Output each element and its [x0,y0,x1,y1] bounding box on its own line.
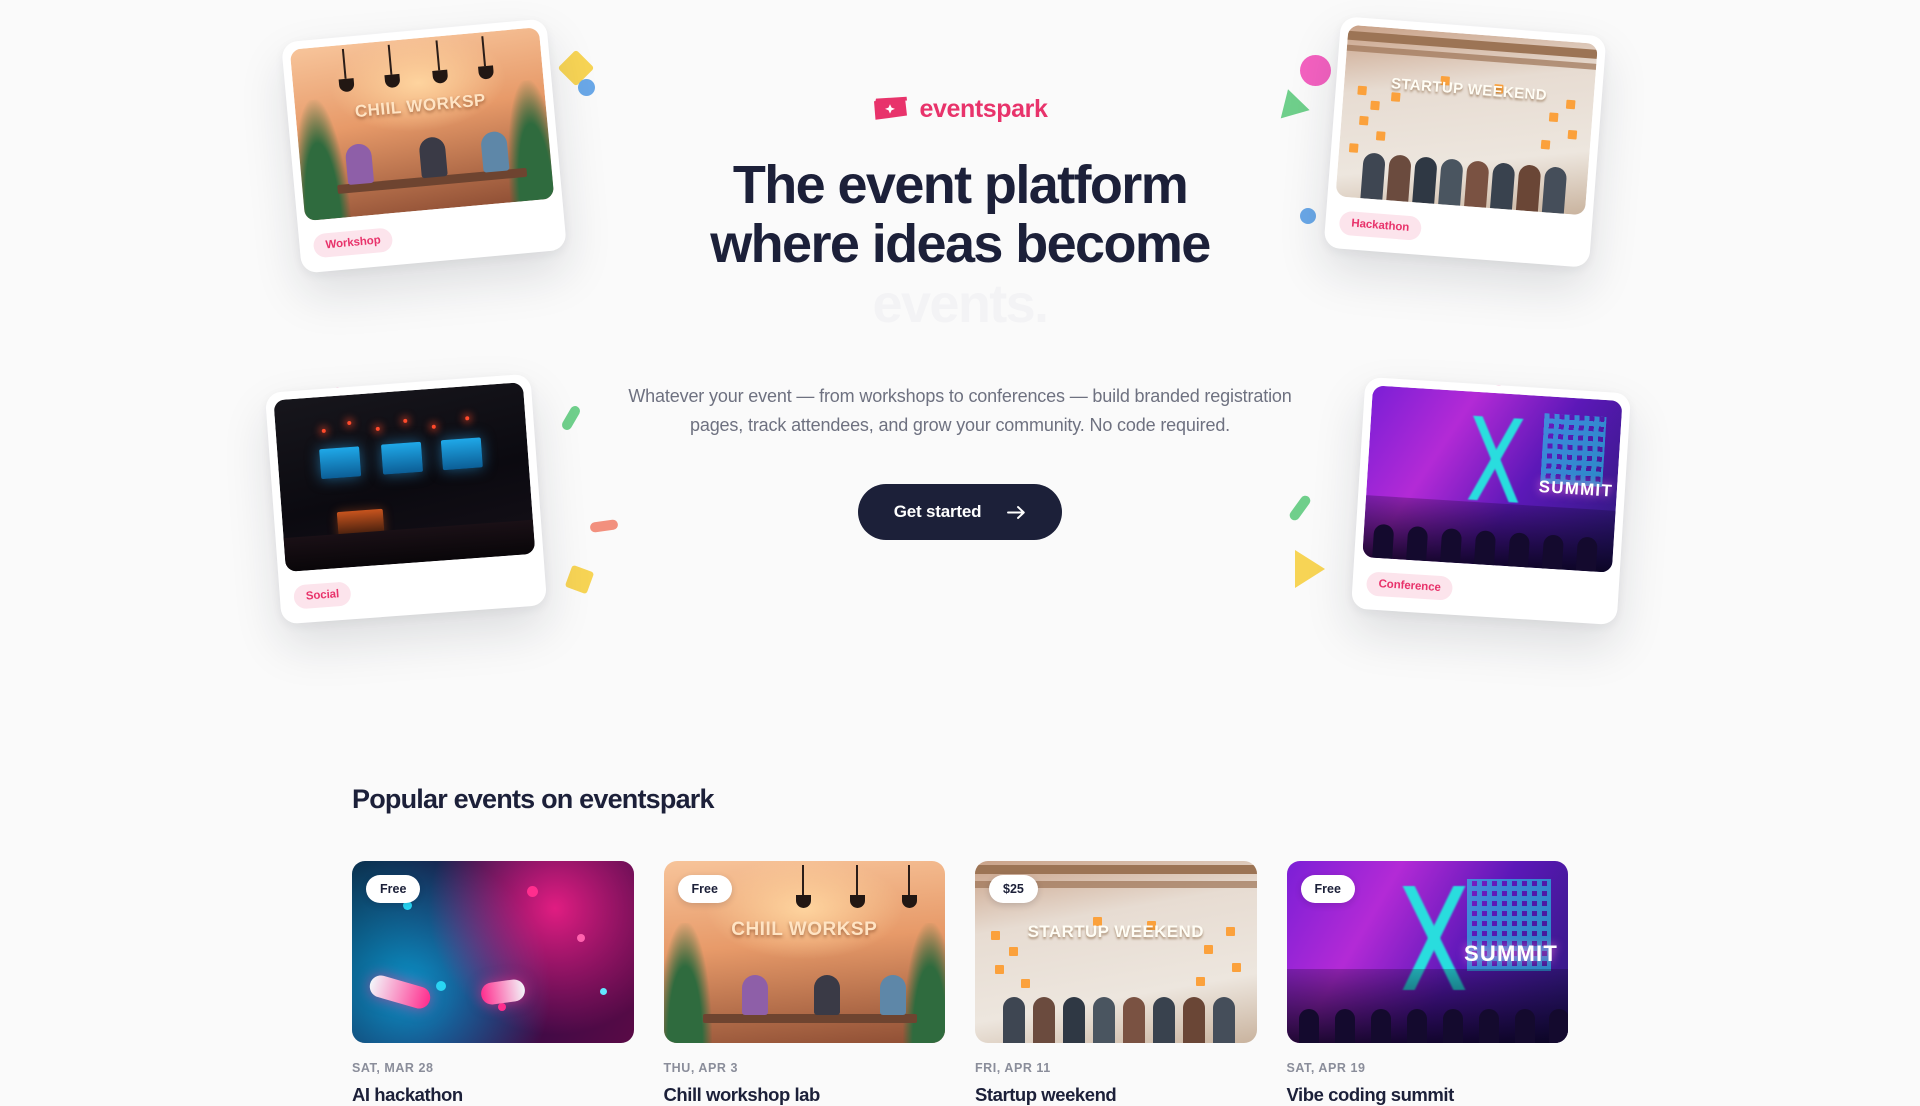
hackathon-photo: STARTUP WEEKEND [1335,25,1597,216]
hero-content: eventspark The event platform where idea… [600,96,1320,540]
event-grid: Free SAT, MAR 28 AI hackathon [352,861,1568,1106]
hackathon-thumb-text: STARTUP WEEKEND [975,923,1257,940]
decor-circle-blue [578,79,595,96]
popular-events-title: Popular events on eventspark [352,700,1568,815]
event-card[interactable]: $25 STARTUP WEEKEND [975,861,1257,1106]
price-badge: Free [1301,875,1355,903]
price-badge: Free [678,875,732,903]
popular-events-section: Popular events on eventspark Free [0,700,1920,1106]
event-thumbnail: $25 STARTUP WEEKEND [975,861,1257,1043]
decor-triangle-yellow [1295,550,1325,588]
price-badge: $25 [989,875,1038,903]
floating-card-social[interactable]: Social [265,374,547,625]
decor-circle-magenta [1300,55,1331,86]
social-photo [273,382,535,572]
floating-card-hackathon[interactable]: STARTUP WEEKEND Hackathon [1323,16,1606,268]
floating-card-workshop[interactable]: CHIIL WORKSP Workshop [281,18,567,273]
floating-card-conference[interactable]: SUMMIT Conference [1351,377,1631,625]
price-badge: Free [366,875,420,903]
brand-name: eventspark [919,97,1047,122]
tag-chip-hackathon: Hackathon [1339,211,1423,241]
hackathon-photo-text: STARTUP WEEKEND [1344,73,1594,107]
hero-section: CHIIL WORKSP Workshop STARTUP WEEK [0,0,1920,700]
event-date: FRI, APR 11 [975,1061,1257,1075]
ticket-icon [872,96,908,122]
cta-container: Get started [600,484,1320,540]
get-started-label: Get started [894,502,982,522]
event-card[interactable]: Free SAT, MAR 28 AI hackathon [352,861,634,1106]
decor-square-yellow-3 [565,565,594,594]
conference-thumb-text: SUMMIT [1464,941,1558,967]
brand-logo[interactable]: eventspark [600,96,1320,122]
hero-subtext: Whatever your event — from workshops to … [600,382,1320,440]
event-name: Startup weekend [975,1084,1257,1106]
tag-chip-social: Social [293,581,352,609]
page-title: The event platform where ideas become ev… [600,156,1320,334]
event-date: SAT, APR 19 [1287,1061,1569,1075]
event-name: Chill workshop lab [664,1084,946,1106]
arrow-right-icon [1007,505,1026,520]
workshop-photo: CHIIL WORKSP [290,27,555,221]
headline-line-1: The event platform [733,155,1187,215]
tag-chip-conference: Conference [1366,571,1454,600]
conference-photo: SUMMIT [1362,385,1622,572]
event-name: AI hackathon [352,1084,634,1106]
event-name: Vibe coding summit [1287,1084,1569,1106]
conference-photo-text: SUMMIT [1538,477,1613,502]
decor-bar-green [560,404,582,432]
workshop-thumb-text: CHIIL WORKSP [664,919,946,941]
event-thumbnail: Free CHIIL WORKSP [664,861,946,1043]
event-card[interactable]: Free CHIIL WORKSP THU, APR 3 [664,861,946,1106]
get-started-button[interactable]: Get started [858,484,1063,540]
event-date: SAT, MAR 28 [352,1061,634,1075]
headline-line-2: where ideas become [710,214,1209,274]
headline-line-3: events. [873,274,1048,334]
event-date: THU, APR 3 [664,1061,946,1075]
event-thumbnail: Free [352,861,634,1043]
event-card[interactable]: Free SUMMIT SAT, APR 19 Vibe [1287,861,1569,1106]
tag-chip-workshop: Workshop [313,227,394,258]
event-thumbnail: Free SUMMIT [1287,861,1569,1043]
